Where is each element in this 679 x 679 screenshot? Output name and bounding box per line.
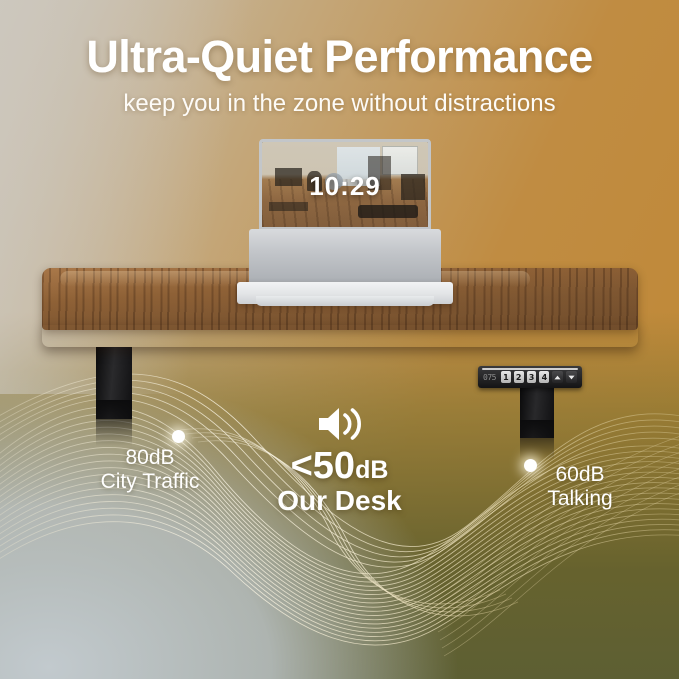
height-display: 075: [483, 373, 496, 382]
chevron-down-icon[interactable]: [566, 371, 577, 383]
wallpaper-low-table: [269, 202, 309, 211]
preset-button-1[interactable]: 1: [501, 371, 511, 383]
speaker-volume-icon: [315, 404, 365, 444]
header-block: Ultra-Quiet Performance keep you in the …: [0, 34, 679, 118]
callout-center-value-row: <50dB: [0, 447, 679, 485]
screen-clock: 10:29: [262, 171, 428, 202]
preset-button-2[interactable]: 2: [514, 371, 524, 383]
chevron-up-icon[interactable]: [552, 371, 563, 383]
marketing-banner: Ultra-Quiet Performance keep you in the …: [0, 0, 679, 679]
callout-center: <50dB Our Desk: [0, 404, 679, 517]
laptop-stand-lip: [256, 296, 434, 306]
preset-button-3[interactable]: 3: [527, 371, 537, 383]
callout-center-label: Our Desk: [0, 486, 679, 517]
marker-dot-right: [524, 459, 537, 472]
laptop-screen: 10:29: [259, 139, 431, 230]
page-title: Ultra-Quiet Performance: [0, 34, 679, 81]
callout-center-value: <50: [291, 445, 355, 487]
callout-center-unit: dB: [355, 456, 388, 484]
marker-dot-left: [172, 430, 185, 443]
page-subtitle: keep you in the zone without distraction…: [0, 90, 679, 118]
laptop-base: [249, 229, 441, 287]
wallpaper-treadmill: [358, 205, 418, 218]
control-panel-led-strip: [482, 368, 578, 370]
preset-button-4[interactable]: 4: [539, 371, 549, 383]
desk-edge: [42, 325, 638, 347]
